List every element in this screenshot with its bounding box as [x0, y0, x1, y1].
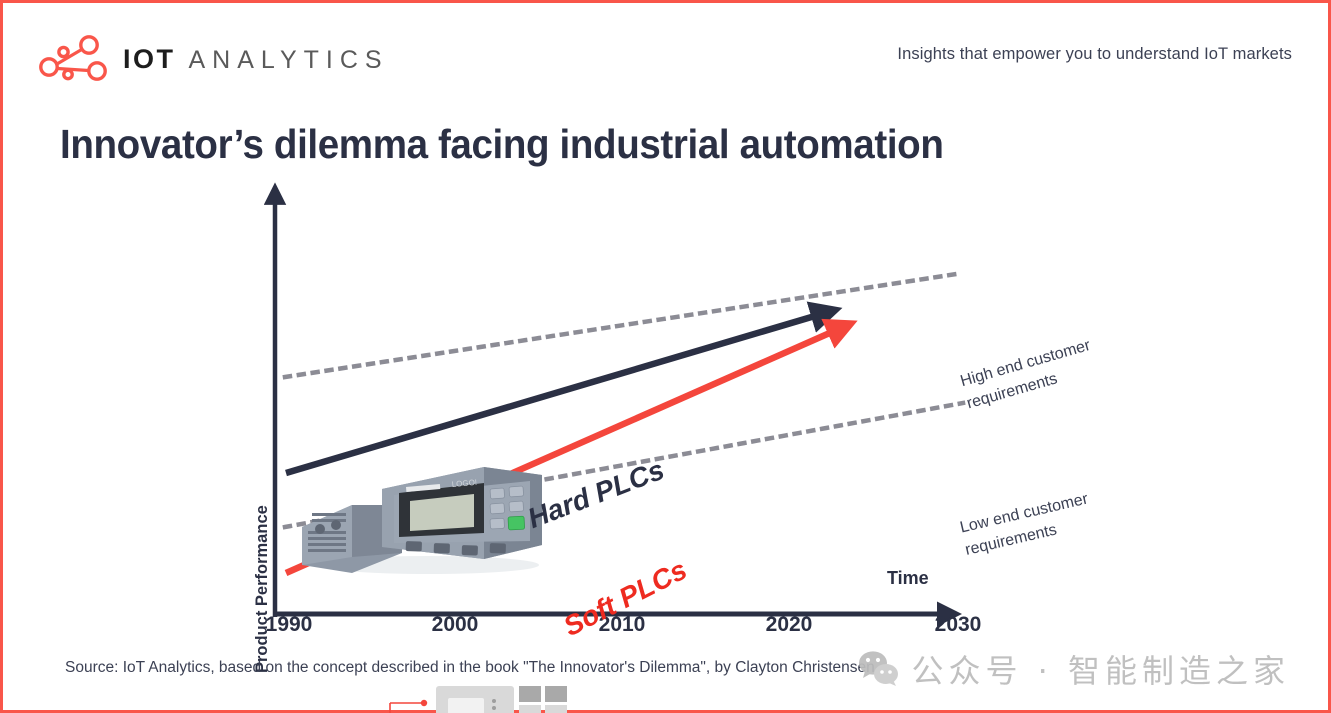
y-axis-title: Product Performance [253, 505, 272, 673]
softplc-diagram: SoftPLC [386, 676, 626, 713]
brand-logo: IOT ANALYTICS [37, 33, 389, 85]
brand-name-primary: IOT [123, 44, 176, 75]
high-end-requirements-line [285, 273, 963, 377]
x-tick-2030: 2030 [935, 613, 982, 637]
slide-frame: IOT ANALYTICS Insights that empower you … [0, 0, 1331, 713]
hard-plcs-trend-line [286, 313, 825, 473]
source-note: Source: IoT Analytics, based on the conc… [65, 659, 875, 677]
wechat-icon [857, 650, 901, 688]
chart-area: LOGO! [3, 173, 1331, 643]
brand-wordmark: IOT ANALYTICS [123, 44, 389, 75]
watermark: 公众号 · 智能制造之家 [857, 646, 1290, 692]
x-tick-2000: 2000 [432, 613, 479, 637]
x-tick-2020: 2020 [766, 613, 813, 637]
softplc-device-graphic [436, 686, 567, 713]
brand-name-secondary: ANALYTICS [189, 46, 389, 75]
plc-logic-module: LOGO! [382, 467, 542, 559]
x-axis-title: Time [887, 568, 929, 589]
header: IOT ANALYTICS Insights that empower you … [3, 25, 1328, 95]
softplc-callout-dot [421, 700, 427, 706]
iot-analytics-network-logo-icon [37, 33, 109, 85]
watermark-text: 公众号 · 智能制造之家 [911, 646, 1290, 692]
x-tick-1990: 1990 [266, 613, 313, 637]
y-axis-title-wrapper: Product Performance [253, 505, 272, 673]
brand-tagline: Insights that empower you to understand … [897, 45, 1292, 64]
page-title: Innovator’s dilemma facing industrial au… [60, 121, 943, 168]
hard-plc-photo: LOGO! [294, 461, 549, 576]
